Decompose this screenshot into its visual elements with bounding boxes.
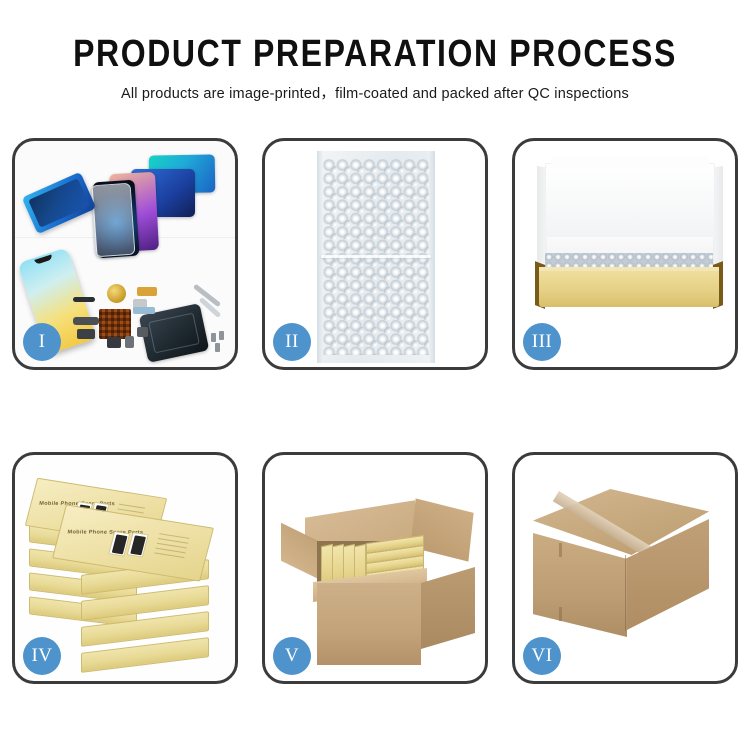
- step-panel-1: I: [12, 138, 238, 370]
- step-panel-4: Mobile Phone Spare Parts Mobile Phone Sp…: [12, 452, 238, 684]
- earpiece-part-icon: [107, 337, 121, 348]
- button-part-icon: [125, 336, 134, 348]
- battery-part-icon: [77, 329, 95, 339]
- step-panel-3: III: [512, 138, 738, 370]
- tray-lip: [539, 267, 719, 271]
- speaker-mesh-part-icon: [73, 297, 95, 302]
- step-panel-2: II: [262, 138, 488, 370]
- wireless-coil-part-icon: [107, 284, 126, 303]
- mailer-box-tray-icon: [539, 269, 719, 307]
- tempered-glass-film-icon: [91, 183, 136, 258]
- screw-icon: [215, 343, 220, 352]
- step-panel-6: VI: [512, 452, 738, 684]
- carton-seam-upper: [559, 543, 562, 557]
- step-panel-5: V: [262, 452, 488, 684]
- screw-icon: [219, 331, 224, 340]
- copper-grid-part-icon: [99, 309, 131, 339]
- screen-protector-film-icon: [22, 172, 97, 235]
- step-badge-5: V: [273, 637, 311, 675]
- carton-vertical-edge: [625, 555, 626, 631]
- page-title: PRODUCT PREPARATION PROCESS: [0, 34, 750, 74]
- carton-side-panel: [421, 567, 475, 649]
- page-subtitle: All products are image-printed，film-coat…: [0, 82, 750, 103]
- carton-seam-lower: [559, 607, 562, 621]
- flex-cable-part-icon: [137, 287, 157, 296]
- step-badge-1: I: [23, 323, 61, 361]
- step-badge-2: II: [273, 323, 311, 361]
- step-badge-3: III: [523, 323, 561, 361]
- camera-module-part-icon: [73, 317, 99, 325]
- chip-part-icon: [137, 327, 148, 337]
- product-preparation-infographic: PRODUCT PREPARATION PROCESS All products…: [0, 0, 750, 750]
- carton-front-panel: [533, 533, 627, 637]
- page-header: PRODUCT PREPARATION PROCESS All products…: [0, 0, 750, 103]
- carton-front-panel: [317, 583, 421, 665]
- process-step-grid: I II: [12, 138, 738, 738]
- step-badge-4: IV: [23, 637, 61, 675]
- step-badge-6: VI: [523, 637, 561, 675]
- ribbon-cable-part-icon: [133, 307, 155, 314]
- pouch-seam: [321, 255, 431, 258]
- screw-icon: [211, 333, 216, 342]
